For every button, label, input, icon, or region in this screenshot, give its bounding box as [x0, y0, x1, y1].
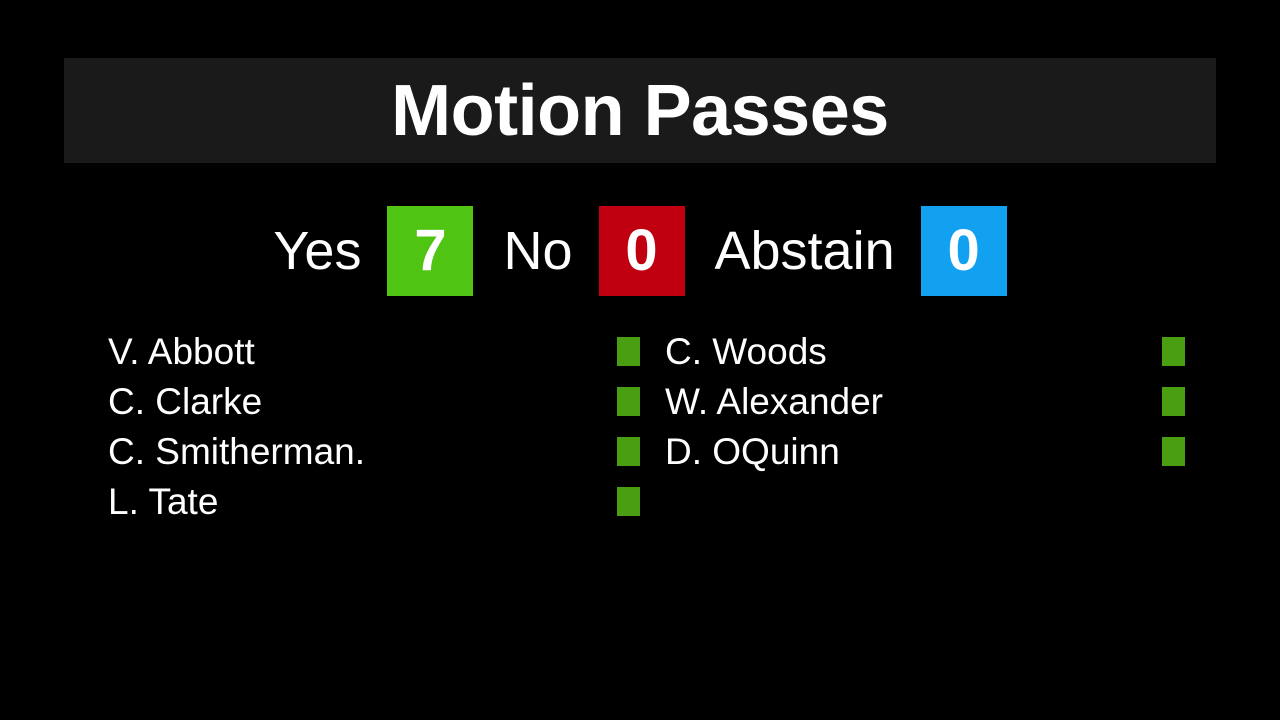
vote-marker-yes	[617, 487, 640, 516]
member-name: C. Woods	[665, 333, 827, 370]
page-title: Motion Passes	[391, 75, 889, 147]
roster-row: L. Tate	[108, 476, 640, 526]
tally-label-no: No	[503, 224, 572, 278]
vote-marker-yes	[617, 337, 640, 366]
member-name: C. Clarke	[108, 383, 262, 420]
vote-tally-row: Yes 7 No 0 Abstain 0	[0, 196, 1280, 306]
roster-row: C. Clarke	[108, 376, 640, 426]
roster-row: V. Abbott	[108, 326, 640, 376]
tally-group-yes: Yes 7	[273, 196, 503, 306]
vote-marker-yes	[617, 437, 640, 466]
vote-marker-yes	[1162, 437, 1185, 466]
roster-row: C. Woods	[665, 326, 1185, 376]
vote-marker-yes	[1162, 387, 1185, 416]
member-name: C. Smitherman.	[108, 433, 365, 470]
tally-group-no: No 0	[503, 196, 714, 306]
vote-marker-yes	[617, 387, 640, 416]
roster-column-left: V. AbbottC. ClarkeC. Smitherman.L. Tate	[108, 326, 640, 526]
tally-count-abstain: 0	[947, 222, 979, 280]
roster-row: D. OQuinn	[665, 426, 1185, 476]
tally-count-no: 0	[625, 222, 657, 280]
vote-marker-yes	[1162, 337, 1185, 366]
roster-row: W. Alexander	[665, 376, 1185, 426]
tally-count-yes: 7	[414, 222, 446, 280]
member-name: V. Abbott	[108, 333, 255, 370]
tally-box-yes: 7	[387, 206, 473, 296]
tally-label-abstain: Abstain	[715, 224, 895, 278]
tally-box-no: 0	[599, 206, 685, 296]
tally-group-abstain: Abstain 0	[715, 196, 1007, 306]
tally-box-abstain: 0	[921, 206, 1007, 296]
tally-label-yes: Yes	[273, 224, 361, 278]
result-banner: Motion Passes	[64, 58, 1216, 163]
member-name: D. OQuinn	[665, 433, 840, 470]
roster-row: C. Smitherman.	[108, 426, 640, 476]
roster-column-right: C. WoodsW. AlexanderD. OQuinn	[665, 326, 1185, 476]
member-name: L. Tate	[108, 483, 218, 520]
member-name: W. Alexander	[665, 383, 883, 420]
